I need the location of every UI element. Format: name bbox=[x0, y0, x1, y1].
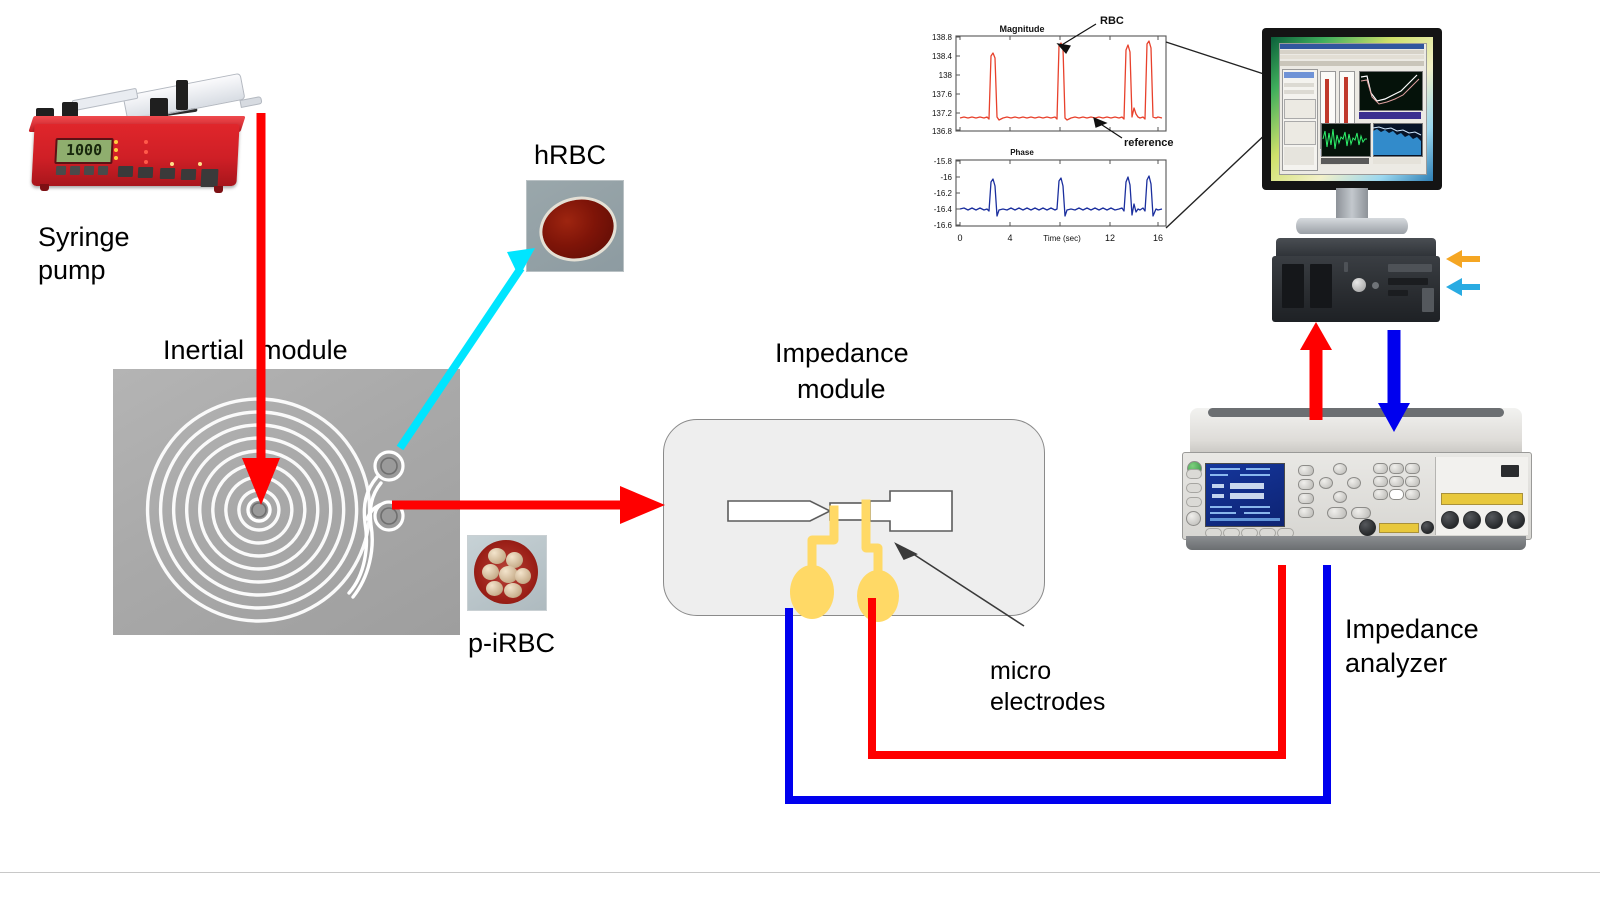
arrow-inertial-to-impedance bbox=[392, 486, 665, 524]
flow-arrows-layer bbox=[0, 0, 1600, 900]
arrow-syringe-to-inertial bbox=[242, 113, 280, 505]
arrow-pc-to-analyzer bbox=[1378, 330, 1410, 432]
bottom-divider bbox=[0, 872, 1600, 873]
figure-canvas: 1000 Syringe pump Inertial module bbox=[0, 0, 1600, 900]
electrode-red-wire bbox=[872, 565, 1282, 755]
arrow-analyzer-to-pc bbox=[1300, 322, 1332, 420]
arrow-inertial-to-hrbc bbox=[400, 248, 535, 448]
